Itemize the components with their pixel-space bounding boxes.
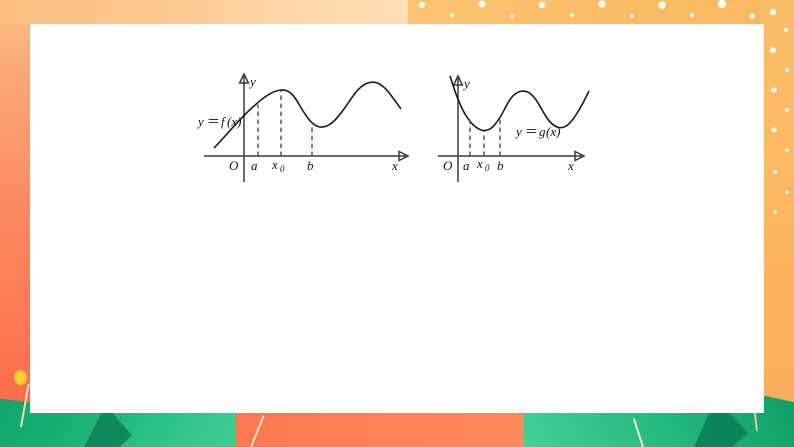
top-right-dotted-amber-bar — [408, 0, 794, 24]
graph-g: y ＝ g (x) y x O a x 0 b — [432, 64, 662, 184]
graph-g-tick-x0: x — [476, 156, 483, 171]
yellow-dot-left — [14, 370, 27, 385]
graph-g-tick-a: a — [463, 158, 470, 173]
graph-f-x-axis-label: x — [391, 158, 398, 173]
graph-f-tick-a: a — [251, 158, 258, 173]
svg-text:0: 0 — [485, 163, 490, 173]
top-left-orange-bar — [0, 0, 420, 24]
svg-text:g: g — [539, 124, 546, 139]
graph-f-origin-label: O — [229, 158, 239, 173]
svg-text:(x): (x) — [227, 114, 241, 129]
figure-group: y ＝ f (x) y x O a x 0 b — [0, 64, 794, 184]
svg-text:(x): (x) — [546, 124, 560, 139]
graph-f-tick-x0: x — [271, 157, 278, 172]
graph-g-x-axis-label: x — [567, 158, 574, 173]
svg-text:＝: ＝ — [207, 114, 220, 129]
graph-f-y-axis-label: y — [248, 74, 256, 89]
graph-f-curve-label: y — [196, 114, 204, 129]
graph-g-curve-label: y — [514, 124, 522, 139]
graph-f: y ＝ f (x) y x O a x 0 b — [196, 64, 426, 184]
slide-root: 问题已知y＝f(x)，y＝g(x)的图象. y ＝ f — [0, 0, 794, 447]
graph-f-tick-b: b — [307, 158, 314, 173]
graph-g-tick-b: b — [497, 158, 504, 173]
svg-text:0: 0 — [280, 164, 285, 174]
svg-text:＝: ＝ — [525, 124, 538, 139]
graph-g-y-axis-label: y — [462, 76, 470, 91]
graph-g-origin-label: O — [443, 158, 453, 173]
